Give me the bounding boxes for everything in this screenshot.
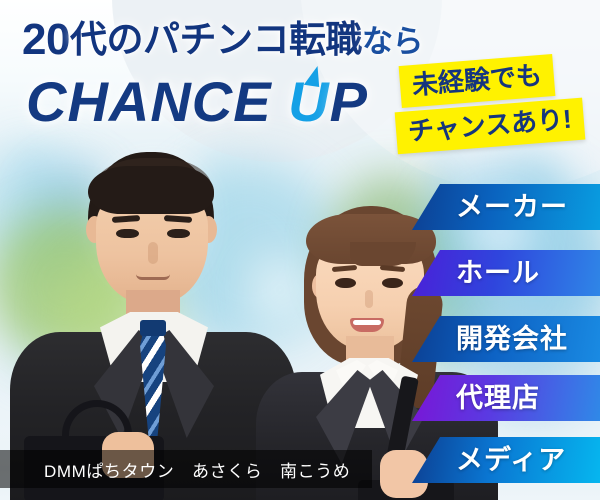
category-tag-list: メーカー ホール 開発会社 代理店 メディア xyxy=(0,0,600,500)
category-tag-label: メーカー xyxy=(456,194,568,221)
category-tag-hall[interactable]: ホール xyxy=(412,250,600,296)
caption-bar: DMMぱちタウン あさくら 南こうめ xyxy=(0,450,372,488)
category-tag-media[interactable]: メディア xyxy=(412,437,600,483)
category-tag-label: メディア xyxy=(456,447,566,474)
category-tag-label: ホール xyxy=(456,260,540,287)
advertisement-banner[interactable]: 20代のパチンコ転職なら CHANCE UP 未経験でも チャンスあり! メーカ… xyxy=(0,0,600,500)
category-tag-agency[interactable]: 代理店 xyxy=(412,375,600,421)
category-tag-development-company[interactable]: 開発会社 xyxy=(412,316,600,362)
caption-text: DMMぱちタウン あさくら 南こうめ xyxy=(44,457,350,482)
category-tag-maker[interactable]: メーカー xyxy=(412,184,600,230)
category-tag-label: 代理店 xyxy=(456,385,540,412)
category-tag-label: 開発会社 xyxy=(456,326,568,353)
